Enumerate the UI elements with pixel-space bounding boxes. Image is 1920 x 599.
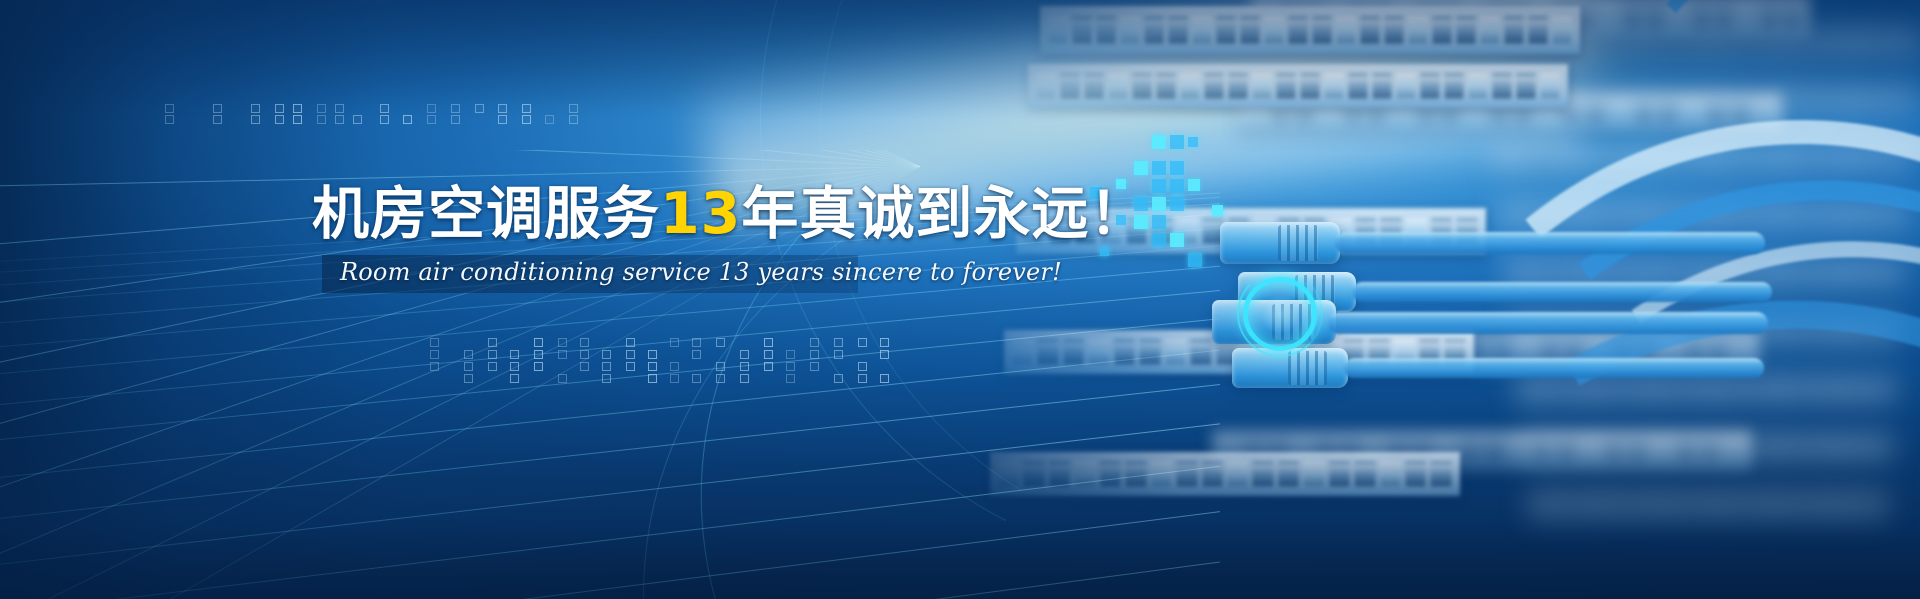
headline-part-before: 机房空调服务 [312, 181, 660, 247]
subtitle: Room air conditioning service 13 years s… [340, 258, 1062, 286]
headline: 机房空调服务13年真诚到永远！ [312, 168, 1147, 250]
hero-banner: 机房空调服务13年真诚到永远！ Room air conditioning se… [0, 0, 1920, 599]
headline-part-after: 年真诚到永远！ [741, 181, 1147, 247]
headline-highlight-years: 13 [660, 181, 741, 247]
dotted-square-row-bottom [430, 338, 900, 384]
dotted-square-row-top [165, 104, 585, 130]
